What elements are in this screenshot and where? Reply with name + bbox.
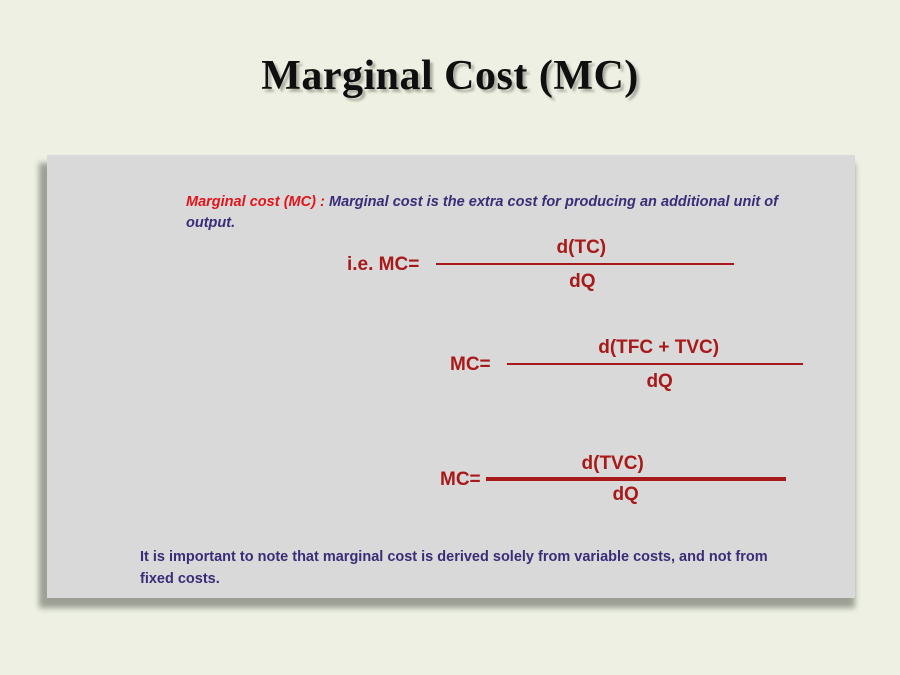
formula-3-fraction: d(TVC) dQ — [486, 454, 786, 504]
formula-1-lhs: i.e. MC= — [347, 255, 419, 274]
definition-term: Marginal cost (MC) : — [186, 194, 325, 210]
page-title: Marginal Cost (MC) — [0, 52, 900, 100]
formula-1-numerator: d(TC) — [557, 238, 607, 257]
formula-2-numerator: d(TFC + TVC) — [598, 338, 719, 357]
formula-2-fraction-bar — [507, 363, 803, 365]
formula-3-lhs: MC= — [440, 470, 481, 489]
formula-3-numerator: d(TVC) — [582, 454, 644, 473]
formula-3-denominator: dQ — [612, 485, 638, 504]
formula-3-fraction-bar — [486, 477, 786, 481]
formula-marginal-cost-variable-cost: MC= d(TVC) dQ — [440, 454, 786, 504]
formula-2-denominator: dQ — [646, 372, 672, 391]
definition-paragraph: Marginal cost (MC) : Marginal cost is th… — [186, 192, 778, 234]
closing-note: It is important to note that marginal co… — [140, 546, 800, 590]
formula-marginal-cost-total-cost: i.e. MC= d(TC) dQ — [347, 238, 734, 291]
formula-1-fraction-bar — [436, 263, 734, 265]
formula-1-denominator: dQ — [569, 272, 595, 291]
formula-1-fraction: d(TC) dQ — [436, 238, 734, 291]
formula-2-fraction: d(TFC + TVC) dQ — [507, 338, 803, 391]
formula-marginal-cost-fixed-plus-variable: MC= d(TFC + TVC) dQ — [450, 338, 803, 391]
formula-2-lhs: MC= — [450, 355, 491, 374]
